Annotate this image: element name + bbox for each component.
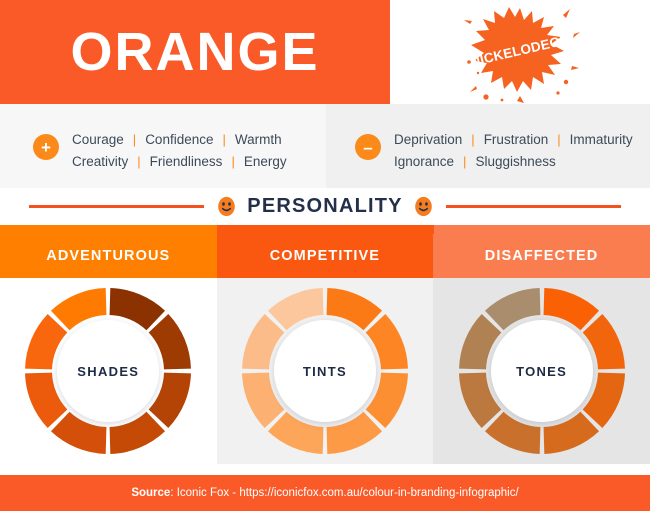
smiley-face-icon <box>216 196 237 217</box>
attribute-row: Ignorance | Sluggishness <box>394 150 633 172</box>
attribute-word: Sluggishness <box>475 154 555 169</box>
column-adventurous: ADVENTUROUS SHADES <box>0 234 217 464</box>
column-heading: DISAFFECTED <box>433 234 650 278</box>
source-label: Source <box>131 487 170 499</box>
nickelodeon-splat-logo: NICKELODEON <box>462 4 582 104</box>
color-rule-divider <box>0 225 650 234</box>
attribute-word: Energy <box>244 154 287 169</box>
source-credit: Source: Iconic Fox - https://iconicfox.c… <box>131 487 518 499</box>
column-body: TONES <box>433 278 650 464</box>
plus-badge-label: + <box>41 139 51 156</box>
minus-badge-icon: – <box>355 134 381 160</box>
attribute-word: Friendliness <box>150 154 223 169</box>
attribute-separator: | <box>133 132 136 147</box>
attributes-section: + – Courage | Confidence | Warmth Creati… <box>0 104 650 188</box>
donut-center: SHADES <box>57 320 159 422</box>
personality-header: PERSONALITY <box>0 188 650 225</box>
rule-segment-1 <box>0 225 217 234</box>
footer: Source: Iconic Fox - https://iconicfox.c… <box>0 475 650 511</box>
rule-segment-2 <box>217 225 434 234</box>
attribute-separator: | <box>471 132 474 147</box>
attribute-word: Creativity <box>72 154 128 169</box>
rule-segment-3 <box>434 225 650 234</box>
attribute-separator: | <box>557 132 560 147</box>
plus-badge-icon: + <box>33 134 59 160</box>
attribute-word: Warmth <box>235 132 282 147</box>
column-disaffected: DISAFFECTED TONES <box>433 234 650 464</box>
donut-label: SHADES <box>77 364 139 379</box>
attribute-row: Deprivation | Frustration | Immaturity <box>394 128 633 150</box>
column-body: SHADES <box>0 278 217 464</box>
smiley-face-icon <box>413 196 434 217</box>
column-heading: COMPETITIVE <box>217 234 434 278</box>
column-competitive: COMPETITIVE TINTS <box>217 234 434 464</box>
attribute-separator: | <box>231 154 234 169</box>
personality-rule-left <box>29 205 204 208</box>
source-url: : Iconic Fox - https://iconicfox.com.au/… <box>170 487 518 499</box>
attribute-word: Courage <box>72 132 124 147</box>
personality-rule-right <box>446 205 621 208</box>
donut-chart-tints: TINTS <box>240 286 410 456</box>
attribute-row: Courage | Confidence | Warmth <box>72 128 287 150</box>
donut-label: TINTS <box>303 364 347 379</box>
attribute-word: Confidence <box>145 132 213 147</box>
attribute-word: Ignorance <box>394 154 454 169</box>
attribute-word: Frustration <box>484 132 549 147</box>
attribute-word: Deprivation <box>394 132 462 147</box>
donut-chart-shades: SHADES <box>23 286 193 456</box>
attribute-separator: | <box>137 154 140 169</box>
donut-label: TONES <box>516 364 567 379</box>
donut-center: TONES <box>491 320 593 422</box>
header: ORANGE NICKELODEON <box>0 0 650 104</box>
column-body: TINTS <box>217 278 434 464</box>
column-heading: ADVENTUROUS <box>0 234 217 278</box>
personality-columns: ADVENTUROUS SHADES COMPETITIVE TINTS DIS… <box>0 234 650 464</box>
minus-badge-label: – <box>363 139 372 156</box>
attribute-row: Creativity | Friendliness | Energy <box>72 150 287 172</box>
attribute-word: Immaturity <box>570 132 633 147</box>
donut-center: TINTS <box>274 320 376 422</box>
attribute-separator: | <box>223 132 226 147</box>
personality-title: PERSONALITY <box>247 195 402 218</box>
attribute-separator: | <box>463 154 466 169</box>
donut-chart-tones: TONES <box>457 286 627 456</box>
positive-attribute-list: Courage | Confidence | Warmth Creativity… <box>72 128 287 172</box>
negative-attribute-list: Deprivation | Frustration | Immaturity I… <box>394 128 633 172</box>
page-title: ORANGE <box>0 0 390 104</box>
